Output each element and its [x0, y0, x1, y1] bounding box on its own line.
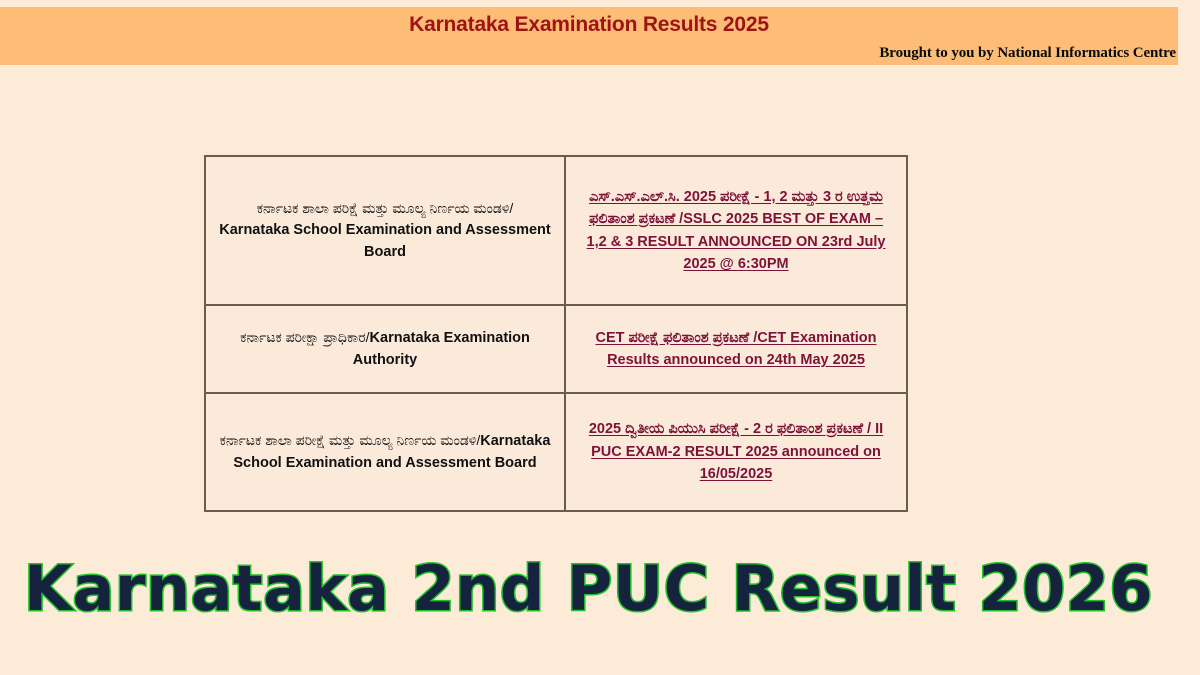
headline-banner-text: Karnataka 2nd PUC Result 2026 — [24, 552, 1153, 625]
result-link-cell[interactable]: 2025 ದ್ವಿತೀಯ ಪಿಯುಸಿ ಪರೀಕ್ಷೆ - 2 ರ ಫಲಿತಾಂ… — [565, 393, 907, 511]
result-link-cell[interactable]: CET ಪರೀಕ್ಷೆ ಫಲಿತಾಂಶ ಪ್ರಕಟಣೆ /CET Examina… — [565, 305, 907, 393]
page-title: Karnataka Examination Results 2025 — [0, 13, 1178, 37]
organization-name-english: Karnataka Examination Authority — [353, 330, 530, 367]
result-announcement-link[interactable]: ಎಸ್.ಎಸ್.ಎಲ್.ಸಿ. 2025 ಪರೀಕ್ಷೆ - 1, 2 ಮತ್ತ… — [587, 189, 886, 272]
table-row: ಕರ್ನಾಟಕ ಶಾಲಾ ಪರಿಕ್ಷೆ ಮತ್ತು ಮೂಲ್ಯ ನಿರ್ಣಯ … — [205, 156, 907, 305]
organization-cell: ಕರ್ನಾಟಕ ಶಾಲಾ ಪರಿಕ್ಷೆ ಮತ್ತು ಮೂಲ್ಯ ನಿರ್ಣಯ … — [205, 156, 565, 305]
organization-cell: ಕರ್ನಾಟಕ ಪರೀಕ್ಷಾ ಪ್ರಾಧಿಕಾರ/Karnataka Exam… — [205, 305, 565, 393]
table-row: ಕರ್ನಾಟಕ ಪರೀಕ್ಷಾ ಪ್ರಾಧಿಕಾರ/Karnataka Exam… — [205, 305, 907, 393]
header-credit-text: Brought to you by National Informatics C… — [879, 45, 1176, 62]
organization-name-kannada: ಕರ್ನಾಟಕ ಶಾಲಾ ಪರಿಕ್ಷೆ ಮತ್ತು ಮೂಲ್ಯ ನಿರ್ಣಯ … — [257, 200, 514, 216]
result-link-cell[interactable]: ಎಸ್.ಎಸ್.ಎಲ್.ಸಿ. 2025 ಪರೀಕ್ಷೆ - 1, 2 ಮತ್ತ… — [565, 156, 907, 305]
organization-name-kannada: ಕರ್ನಾಟಕ ಪರೀಕ್ಷಾ ಪ್ರಾಧಿಕಾರ/ — [240, 329, 369, 345]
organization-cell: ಕರ್ನಾಟಕ ಶಾಲಾ ಪರೀಕ್ಷೆ ಮತ್ತು ಮೂಲ್ಯ ನಿರ್ಣಯ … — [205, 393, 565, 511]
exam-results-table: ಕರ್ನಾಟಕ ಶಾಲಾ ಪರಿಕ್ಷೆ ಮತ್ತು ಮೂಲ್ಯ ನಿರ್ಣಯ … — [204, 155, 908, 512]
organization-name-english: Karnataka School Examination and Assessm… — [219, 222, 550, 259]
result-announcement-link[interactable]: CET ಪರೀಕ್ಷೆ ಫಲಿತಾಂಶ ಪ್ರಕಟಣೆ /CET Examina… — [595, 330, 876, 368]
organization-name-kannada: ಕರ್ನಾಟಕ ಶಾಲಾ ಪರೀಕ್ಷೆ ಮತ್ತು ಮೂಲ್ಯ ನಿರ್ಣಯ … — [220, 432, 481, 448]
site-header-banner: Karnataka Examination Results 2025 Broug… — [0, 7, 1178, 65]
table-row: ಕರ್ನಾಟಕ ಶಾಲಾ ಪರೀಕ್ಷೆ ಮತ್ತು ಮೂಲ್ಯ ನಿರ್ಣಯ … — [205, 393, 907, 511]
result-announcement-link[interactable]: 2025 ದ್ವಿತೀಯ ಪಿಯುಸಿ ಪರೀಕ್ಷೆ - 2 ರ ಫಲಿತಾಂ… — [589, 421, 883, 482]
